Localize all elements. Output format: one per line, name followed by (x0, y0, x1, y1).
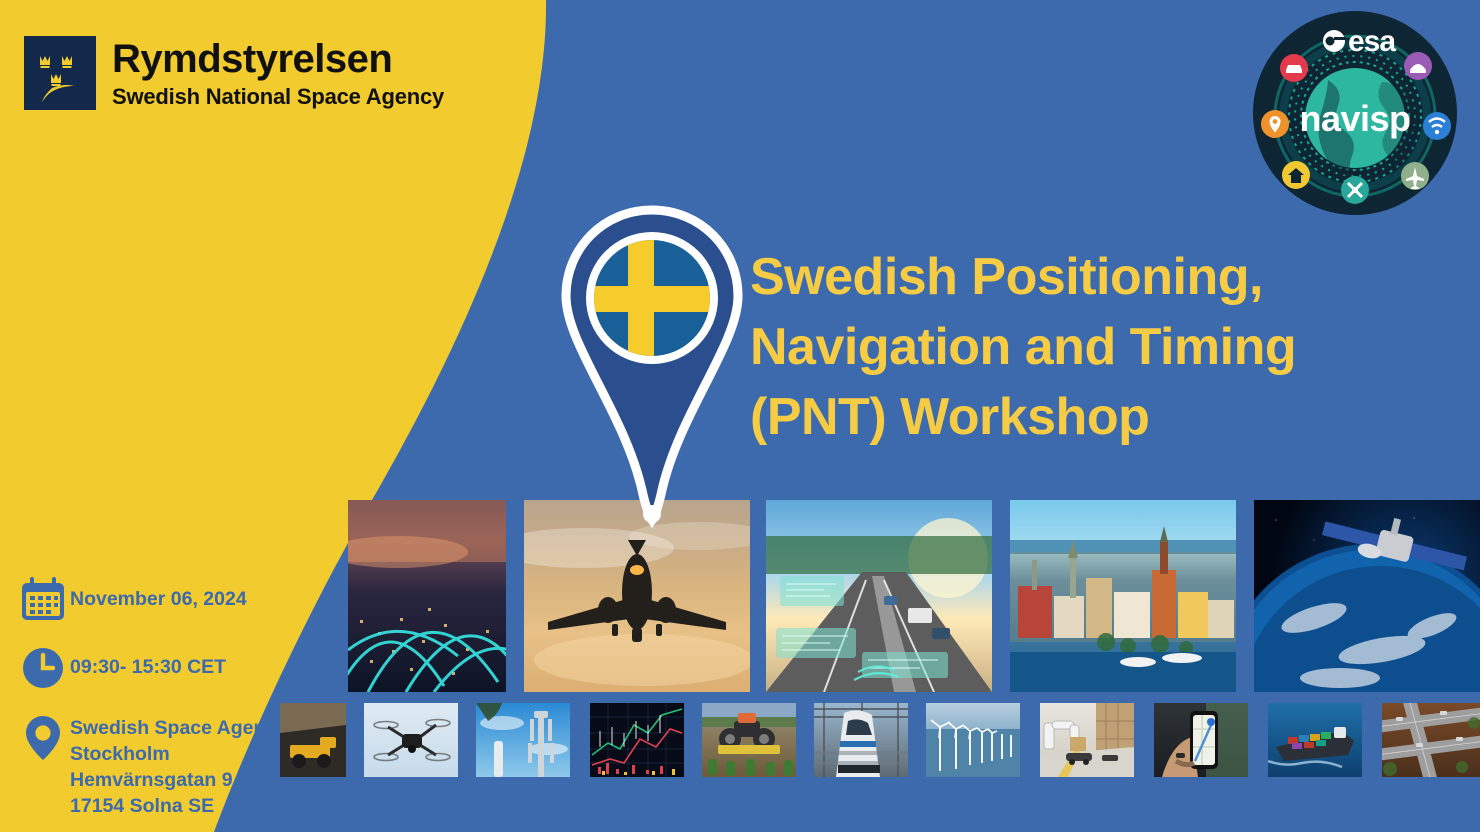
tile-city-network (348, 500, 506, 692)
ring-icon-wifi (1423, 112, 1451, 140)
svg-text:esa: esa (1348, 25, 1396, 58)
tile-satellite (1254, 500, 1480, 692)
tile-airplane (524, 500, 750, 692)
tile-agri (702, 703, 796, 777)
tile-robotics (1040, 703, 1134, 777)
tile-drone (364, 703, 458, 777)
ring-icon-ship (1341, 176, 1369, 204)
logo-subtitle: Swedish National Space Agency (112, 86, 444, 108)
logo-title: Rymdstyrelsen (112, 39, 444, 79)
ring-icon-car (1280, 54, 1308, 82)
tile-stockholm (1010, 500, 1236, 692)
navisp-wordmark: navisp (1299, 98, 1410, 139)
tile-ship (1268, 703, 1362, 777)
event-venue-row: Swedish Space Ageny Stockholm Hemvärnsga… (16, 712, 346, 820)
ring-icon-plane (1401, 162, 1429, 190)
tile-interchange (1382, 703, 1480, 777)
tile-telecom (476, 703, 570, 777)
page-title: Swedish Positioning, Navigation and Timi… (750, 242, 1410, 453)
snsa-logo: Rymdstyrelsen Swedish National Space Age… (24, 36, 444, 110)
tile-windfarm (926, 703, 1020, 777)
tile-train (814, 703, 908, 777)
ring-icon-location (1261, 110, 1289, 138)
event-date-row: November 06, 2024 (16, 576, 346, 622)
event-poster: Rymdstyrelsen Swedish National Space Age… (0, 0, 1480, 832)
event-details: November 06, 2024 09:30- 15:30 CET Swedi… (16, 576, 346, 820)
ring-icon-drone (1404, 52, 1432, 80)
clock-icon (16, 644, 70, 690)
event-time-value: 09:30- 15:30 CET (70, 644, 226, 680)
location-pin-icon (16, 712, 70, 762)
navisp-badge: esa navisp (1250, 8, 1460, 218)
three-crowns-icon (24, 36, 96, 110)
tile-smart-highway (766, 500, 992, 692)
tile-finance (590, 703, 684, 777)
event-date-value: November 06, 2024 (70, 576, 247, 612)
ring-icon-home (1282, 161, 1310, 189)
calendar-icon (16, 576, 70, 622)
event-time-row: 09:30- 15:30 CET (16, 644, 346, 690)
event-venue-value: Swedish Space Ageny Stockholm Hemvärnsga… (70, 712, 276, 820)
map-pin-swedish-flag-icon (552, 198, 752, 528)
tile-phone-nav (1154, 703, 1248, 777)
